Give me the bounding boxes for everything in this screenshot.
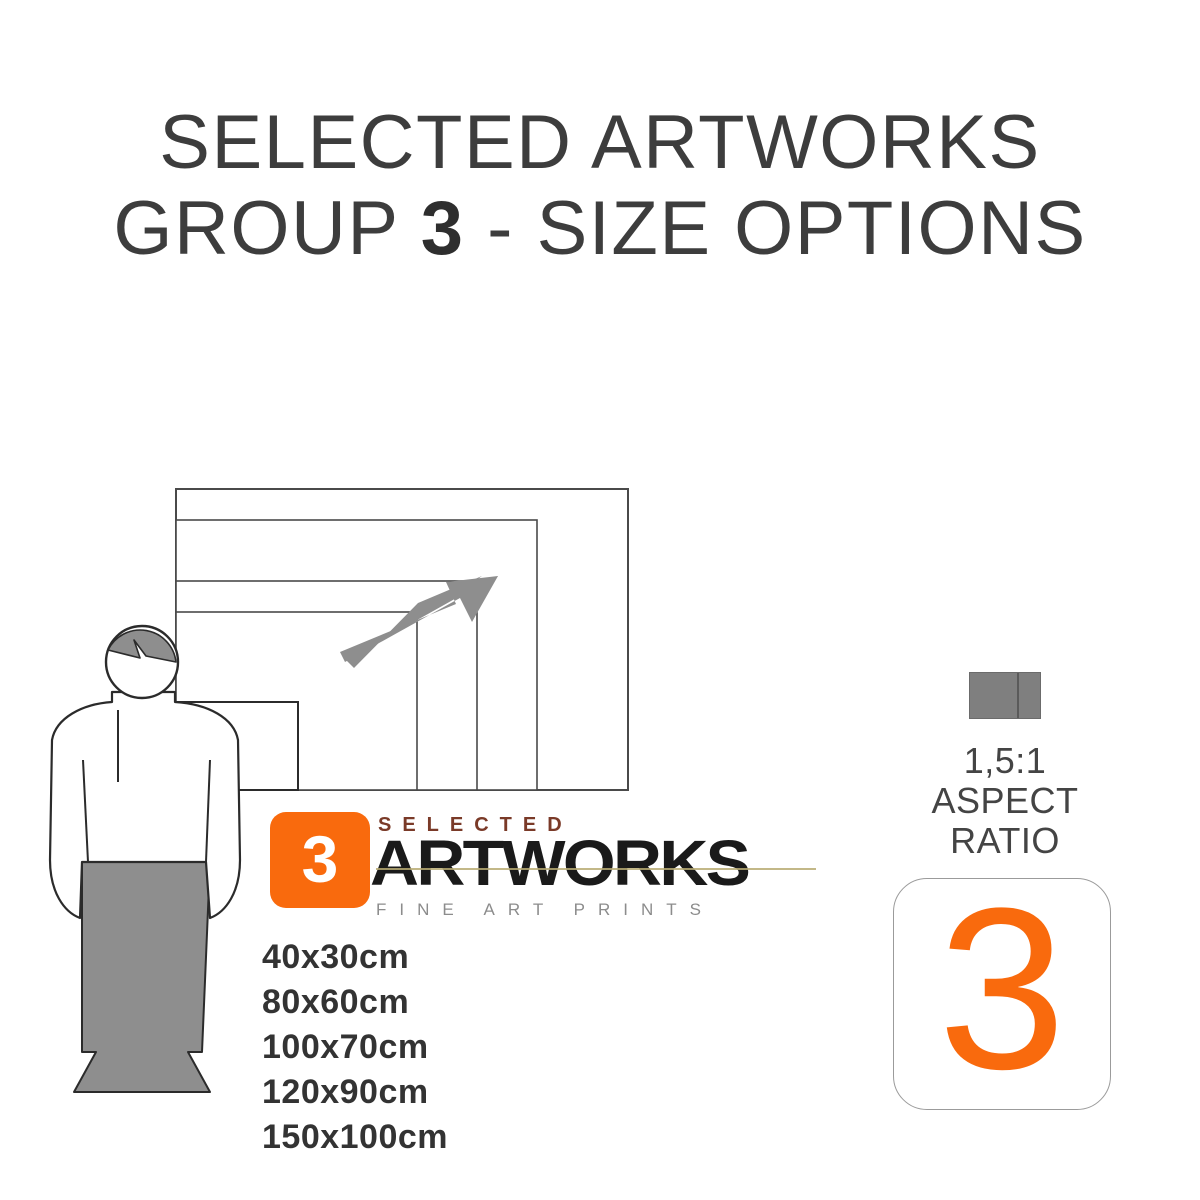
size-option-1: 40x30cm	[262, 935, 622, 980]
logo-strike-decoration	[376, 868, 816, 870]
title-group-prefix: GROUP	[113, 186, 420, 271]
aspect-ratio-value: 1,5:1	[880, 741, 1130, 781]
aspect-ratio-text: 1,5:1 ASPECT RATIO	[880, 741, 1130, 861]
title-line-2: GROUP 3 - SIZE OPTIONS	[0, 190, 1200, 268]
logo-artworks-text: ARTWORKS	[370, 826, 748, 900]
page-title: SELECTED ARTWORKS GROUP 3 - SIZE OPTIONS	[0, 104, 1200, 269]
title-line-1: SELECTED ARTWORKS	[0, 104, 1200, 182]
aspect-ratio-divider-line	[1017, 673, 1019, 718]
title-size-options-suffix: - SIZE OPTIONS	[465, 186, 1087, 271]
group-number-card: 3	[893, 878, 1111, 1110]
logo-tagline-text: FINE ART PRINTS	[376, 900, 714, 920]
logo-row: 3 SELECTED ARTWORKS FINE ART PRINTS	[270, 812, 840, 917]
size-option-5: 150x100cm	[262, 1115, 622, 1160]
person-trousers	[74, 862, 210, 1092]
aspect-ratio-block: 1,5:1 ASPECT RATIO	[880, 672, 1130, 861]
aspect-ratio-swatch-icon	[969, 672, 1041, 719]
size-options-list: 40x30cm 80x60cm 100x70cm 120x90cm 150x10…	[262, 935, 622, 1160]
group-badge-number: 3	[302, 826, 339, 892]
group-number-badge: 3	[270, 812, 370, 908]
group-card-number: 3	[938, 874, 1066, 1104]
size-option-4: 120x90cm	[262, 1070, 622, 1115]
aspect-ratio-label-line-1: ASPECT	[880, 781, 1130, 821]
title-group-number: 3	[421, 186, 465, 271]
size-option-2: 80x60cm	[262, 980, 622, 1025]
standing-person-scale-reference	[38, 600, 268, 1170]
brand-logo: SELECTED ARTWORKS FINE ART PRINTS	[370, 812, 840, 917]
poster-canvas: SELECTED ARTWORKS GROUP 3 - SIZE OPTIONS	[0, 0, 1200, 1200]
size-option-3: 100x70cm	[262, 1025, 622, 1070]
aspect-ratio-label-line-2: RATIO	[880, 821, 1130, 861]
